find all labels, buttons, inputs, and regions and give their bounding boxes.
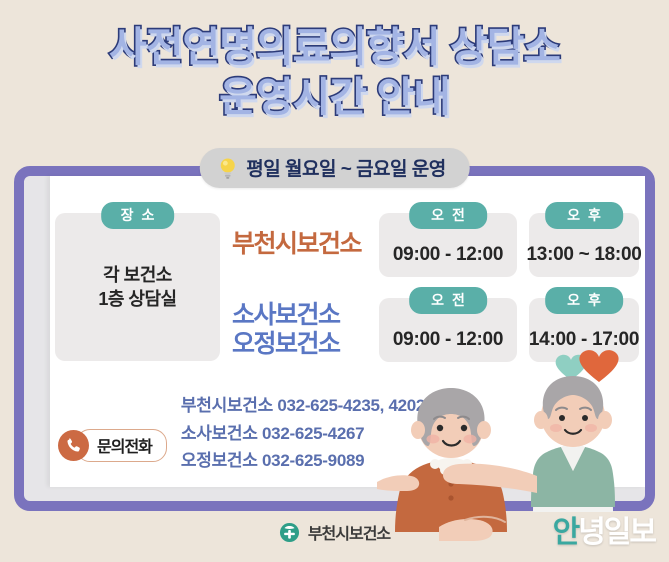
title-line-1: 사전연명의료의향서 상담소 <box>0 22 669 72</box>
afternoon-box-bucheon: 오 후 13:00 ~ 18:00 <box>529 213 639 277</box>
table-row-label-ojeong: 오정보건소 <box>232 330 367 359</box>
brand-logo: 안녕일보 <box>553 507 655 551</box>
afternoon-label-bucheon: 오 후 <box>545 202 623 229</box>
contact-section: 문의전화 부천시보건소 032-625-4235, 4202 소사보건소 032… <box>58 393 528 474</box>
morning-time-bucheon: 09:00 - 12:00 <box>393 244 503 266</box>
afternoon-box-sosa-ojeong: 오 후 14:00 - 17:00 <box>529 298 639 362</box>
lightbulb-icon <box>217 156 237 180</box>
afternoon-time-sosa-ojeong: 14:00 - 17:00 <box>529 329 639 351</box>
weekday-badge-label: 평일 월요일 ~ 금요일 운영 <box>246 154 446 181</box>
phone-icon <box>58 430 89 461</box>
place-box: 장 소 각 보건소 1층 상담실 <box>55 213 220 361</box>
place-line-2: 1층 상담실 <box>98 287 176 311</box>
weekday-badge: 평일 월요일 ~ 금요일 운영 <box>199 148 470 188</box>
contact-badge-label: 문의전화 <box>76 429 167 462</box>
morning-box-sosa-ojeong: 오 전 09:00 - 12:00 <box>379 298 517 362</box>
title-line-2: 운영시간 안내 <box>0 72 669 122</box>
place-line-1: 각 보건소 <box>103 263 172 287</box>
table-row-label-sosa-ojeong: 소사보건소 오정보건소 <box>232 301 367 358</box>
page-title: 사전연명의료의향서 상담소 운영시간 안내 <box>0 22 669 122</box>
afternoon-label-sosa-ojeong: 오 후 <box>545 287 623 314</box>
afternoon-time-bucheon: 13:00 ~ 18:00 <box>527 244 642 266</box>
table-row-label-bucheon: 부천시보건소 <box>232 230 367 259</box>
place-label: 장 소 <box>101 202 175 229</box>
schedule-table: 부천시보건소 오 전 09:00 - 12:00 오 후 13:00 ~ 18:… <box>55 206 630 368</box>
morning-label-bucheon: 오 전 <box>409 202 487 229</box>
morning-box-bucheon: 오 전 09:00 - 12:00 <box>379 213 517 277</box>
contact-line-bucheon: 부천시보건소 032-625-4235, 4202 <box>181 393 425 419</box>
table-row-label-sosa: 소사보건소 <box>232 301 367 330</box>
contact-line-sosa: 소사보건소 032-625-4267 <box>181 421 425 447</box>
brand-logo-first-char: 안 <box>553 507 579 551</box>
morning-time-sosa-ojeong: 09:00 - 12:00 <box>393 329 503 351</box>
contact-badge: 문의전화 <box>58 429 167 462</box>
contact-number-list: 부천시보건소 032-625-4235, 4202 소사보건소 032-625-… <box>181 393 425 474</box>
medical-cross-icon <box>279 522 300 543</box>
footer-label: 부천시보건소 <box>308 520 390 544</box>
morning-label-sosa-ojeong: 오 전 <box>409 287 487 314</box>
contact-line-ojeong: 오정보건소 032-625-9089 <box>181 448 425 474</box>
brand-logo-rest: 녕일보 <box>578 507 655 551</box>
